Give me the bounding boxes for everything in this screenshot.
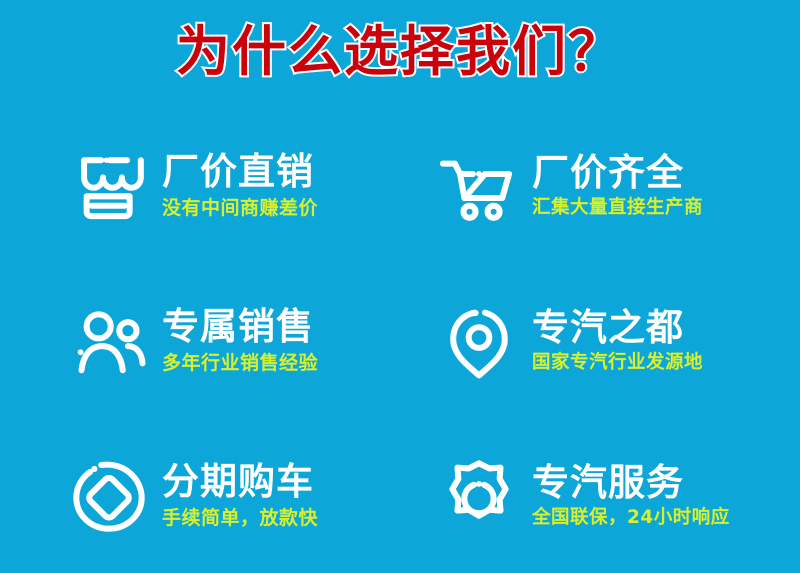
- feature-subtitle: 手续简单，放款快: [162, 507, 318, 530]
- feature-subtitle: 汇集大量直接生产商: [532, 197, 703, 219]
- feature-title: 专汽服务: [532, 462, 730, 503]
- map-pin-icon: [436, 298, 522, 384]
- two-people-icon: [66, 298, 152, 384]
- feature-title: 厂价直销: [162, 151, 318, 192]
- circle-diamond-icon: [66, 453, 152, 539]
- page-title: 为什么选择我们？: [0, 20, 800, 84]
- feature-title: 厂价齐全: [532, 152, 703, 193]
- feature-title: 专属销售: [162, 306, 318, 347]
- feature-item-installment-purchase: 分期购车 手续简单，放款快: [0, 418, 400, 573]
- feature-title: 专汽之都: [532, 307, 703, 348]
- feature-item-special-vehicle-capital: 专汽之都 国家专汽行业发源地: [400, 263, 800, 418]
- feature-item-dedicated-sales: 专属销售 多年行业销售经验: [0, 263, 400, 418]
- feature-text: 厂价直销 没有中间商赚差价: [162, 151, 318, 219]
- feature-text: 专属销售 多年行业销售经验: [162, 306, 318, 374]
- feature-item-factory-direct-sales: 厂价直销 没有中间商赚差价: [0, 108, 400, 263]
- feature-item-special-vehicle-service: 专汽服务 全国联保，24小时响应: [400, 418, 800, 573]
- feature-subtitle: 国家专汽行业发源地: [532, 352, 703, 374]
- feature-subtitle: 多年行业销售经验: [162, 352, 318, 375]
- feature-text: 厂价齐全 汇集大量直接生产商: [532, 152, 703, 220]
- feature-grid: 厂价直销 没有中间商赚差价 厂价齐全 汇集大量直接生产商: [0, 108, 800, 558]
- storefront-icon: [66, 143, 152, 229]
- gear-icon: [436, 453, 522, 539]
- feature-text: 专汽服务 全国联保，24小时响应: [532, 462, 730, 530]
- feature-subtitle: 没有中间商赚差价: [162, 197, 318, 220]
- feature-subtitle: 全国联保，24小时响应: [532, 507, 730, 529]
- feature-item-full-price-range: 厂价齐全 汇集大量直接生产商: [400, 108, 800, 263]
- shopping-cart-icon: [436, 143, 522, 229]
- feature-text: 专汽之都 国家专汽行业发源地: [532, 307, 703, 375]
- feature-title: 分期购车: [162, 461, 318, 502]
- feature-text: 分期购车 手续简单，放款快: [162, 461, 318, 529]
